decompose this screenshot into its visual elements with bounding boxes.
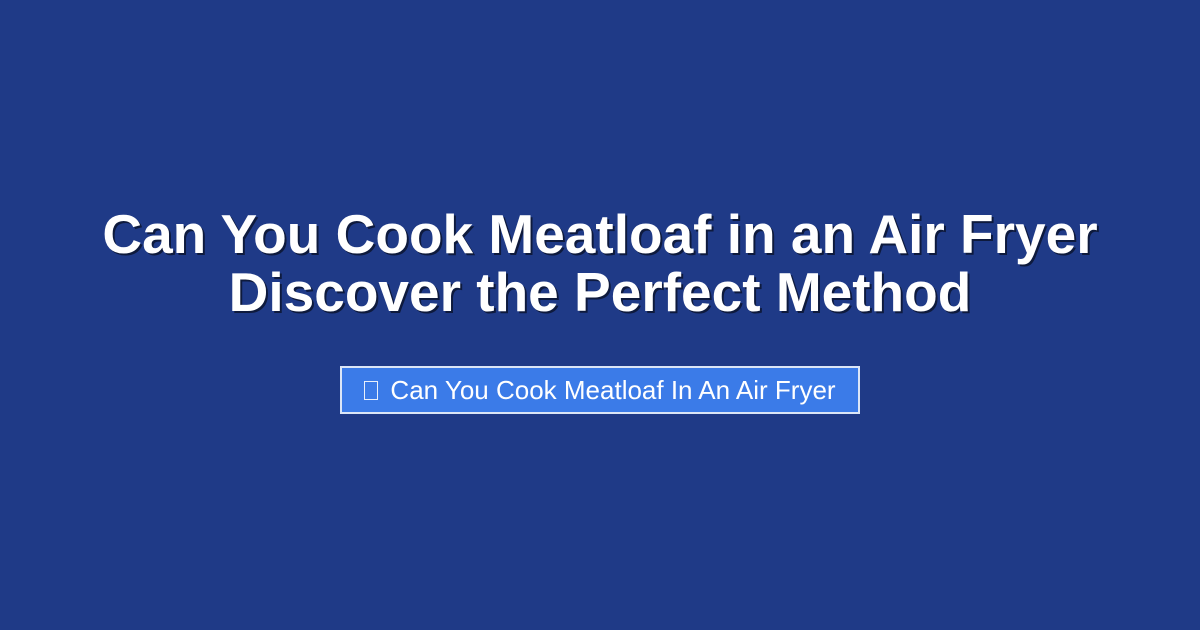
topic-badge-button[interactable]: Can You Cook Meatloaf In An Air Fryer — [340, 366, 859, 414]
card-content: Can You Cook Meatloaf in an Air Fryer Di… — [50, 205, 1150, 414]
page-title: Can You Cook Meatloaf in an Air Fryer Di… — [80, 205, 1120, 321]
topic-badge-label: Can You Cook Meatloaf In An Air Fryer — [390, 377, 835, 403]
badge-row: Can You Cook Meatloaf In An Air Fryer — [50, 366, 1150, 414]
og-card: Can You Cook Meatloaf in an Air Fryer Di… — [0, 0, 1200, 630]
missing-glyph-box-icon — [364, 381, 378, 400]
